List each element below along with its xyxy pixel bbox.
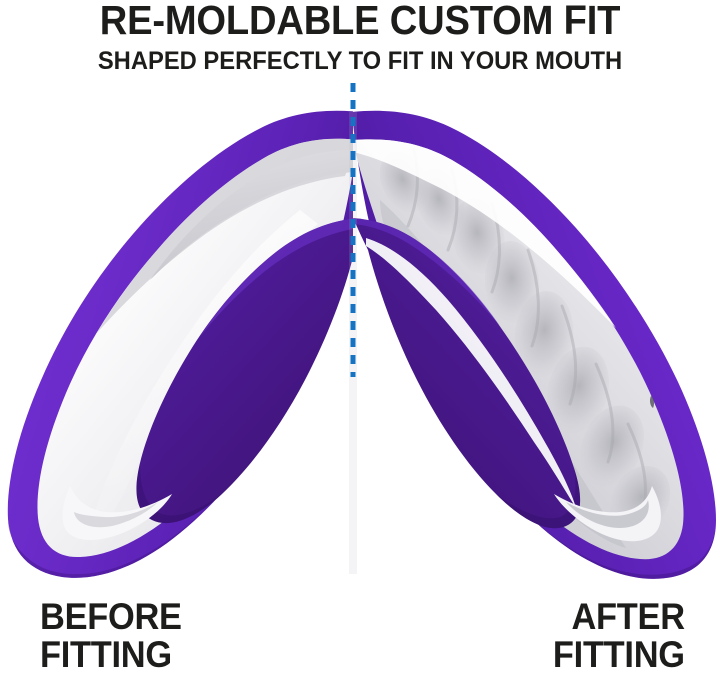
- caption-after-fitting: AFTER FITTING: [553, 598, 685, 674]
- caption-before-fitting: BEFORE FITTING: [40, 598, 182, 674]
- page-subtitle: SHAPED PERFECTLY TO FIT IN YOUR MOUTH: [18, 40, 702, 74]
- headline-block: RE-MOLDABLE CUSTOM FIT SHAPED PERFECTLY …: [0, 0, 720, 74]
- mouthguard-left-half: [8, 111, 361, 578]
- mouthguard-right-half: [352, 111, 716, 579]
- caption-before-line1: BEFORE: [40, 596, 182, 637]
- center-seam-shadow: [349, 112, 357, 574]
- caption-after-line1: AFTER: [572, 596, 685, 637]
- mouthguard-infographic: RE-MOLDABLE CUSTOM FIT SHAPED PERFECTLY …: [0, 0, 720, 678]
- caption-after-line2: FITTING: [553, 636, 685, 674]
- mouthguard-illustration: [0, 0, 720, 678]
- page-title: RE-MOLDABLE CUSTOM FIT: [25, 0, 695, 40]
- caption-before-line2: FITTING: [40, 636, 182, 674]
